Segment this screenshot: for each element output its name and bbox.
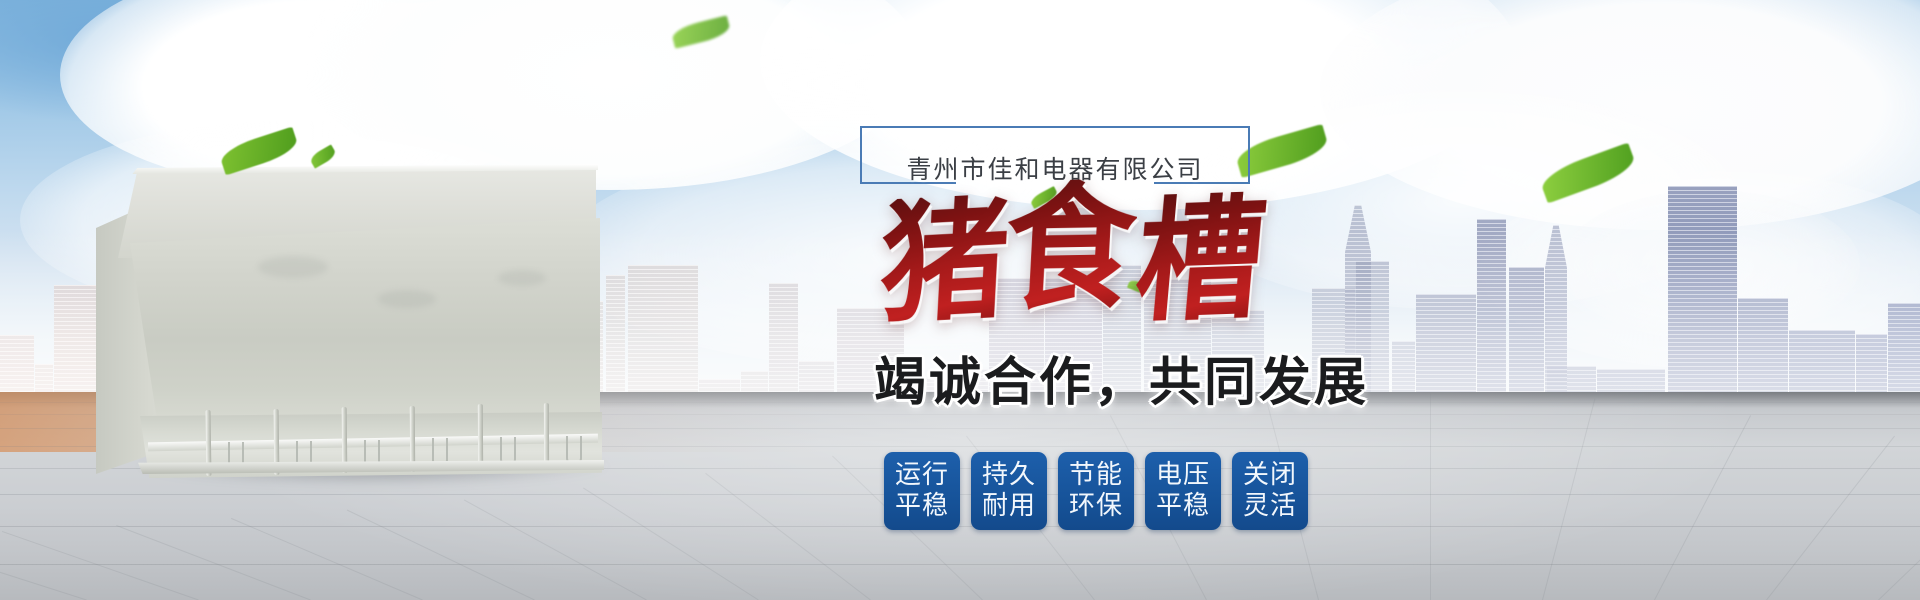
badge-line-2: 平稳 (1156, 492, 1210, 521)
metal-stain (498, 270, 546, 286)
main-title: 猪 食 槽 (880, 186, 1280, 336)
badge-line-1: 运行 (895, 461, 949, 490)
badge-line-1: 节能 (1069, 461, 1123, 490)
feeder-divider-bar (544, 403, 549, 469)
badge-line-1: 持久 (982, 461, 1036, 490)
feeder-inner-wall (130, 218, 600, 428)
badge-line-2: 耐用 (982, 492, 1036, 521)
badge-line-2: 灵活 (1243, 492, 1297, 521)
metal-stain (378, 290, 436, 308)
promo-banner: 青州市佳和电器有限公司 猪 食 槽 竭诚合作，共同发展 运行平稳持久耐用节能环保… (0, 0, 1920, 600)
feature-badge[interactable]: 持久耐用 (971, 452, 1047, 530)
feature-badge[interactable]: 关闭灵活 (1232, 452, 1308, 530)
badge-line-2: 环保 (1069, 492, 1123, 521)
badge-line-1: 电压 (1156, 461, 1210, 490)
title-character: 猪 (877, 193, 1012, 332)
feeder-divider-bar (478, 404, 483, 470)
badge-line-2: 平稳 (895, 492, 949, 521)
title-character: 槽 (1131, 191, 1271, 330)
metal-stain (258, 256, 328, 278)
feature-badge-list: 运行平稳持久耐用节能环保电压平稳关闭灵活 (884, 452, 1308, 530)
subtitle-slogan: 竭诚合作，共同发展 (874, 340, 1369, 415)
title-character: 食 (1002, 179, 1139, 319)
feature-badge[interactable]: 节能环保 (1058, 452, 1134, 530)
feature-badge[interactable]: 运行平稳 (884, 452, 960, 530)
product-image-pig-feeder (78, 160, 638, 490)
feature-badge[interactable]: 电压平稳 (1145, 452, 1221, 530)
badge-line-1: 关闭 (1243, 461, 1297, 490)
